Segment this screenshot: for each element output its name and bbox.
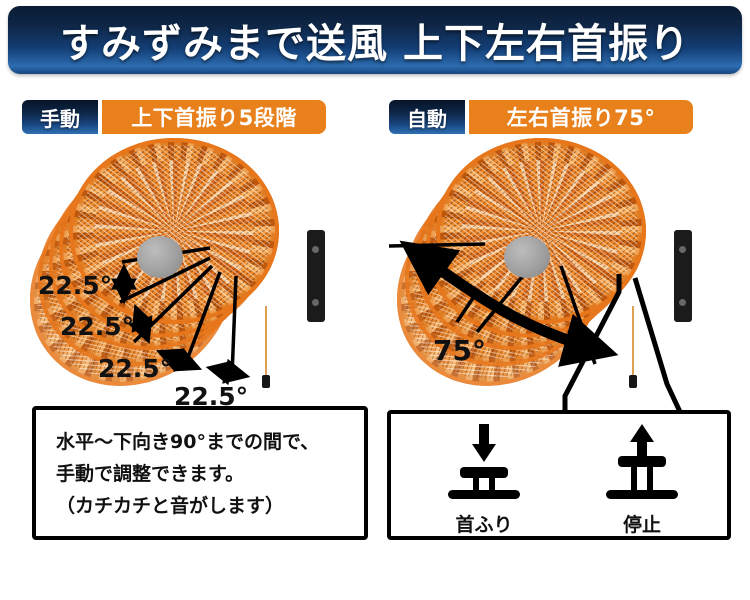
header-banner: すみずみまで送風 上下左右首振り	[8, 6, 742, 74]
knob-stop: 停止	[596, 422, 688, 540]
knob-stop-caption: 停止	[623, 510, 661, 537]
angle-label-1: 22.5°	[38, 271, 112, 300]
fan-hub	[137, 236, 183, 278]
angle-label-3: 22.5°	[98, 354, 172, 383]
pull-cord	[632, 306, 634, 378]
note-line-3: （カチカチと音がします）	[56, 490, 364, 522]
fan-hub	[504, 236, 550, 278]
note-box-manual-adjust: 水平〜下向き90°までの間で、 手動で調整できます。 （カチカチと音がします）	[32, 406, 368, 540]
panel-vertical-oscillation: 手動 上下首振り5段階	[14, 96, 370, 566]
page-title: すみずみまで送風 上下左右首振り	[60, 11, 690, 69]
sweep-angle-label: 75°	[433, 334, 486, 367]
knob-swing-caption: 首ふり	[455, 510, 512, 537]
knob-icon-row: 首ふり 停止	[391, 422, 735, 540]
knob-pressed-diagram	[438, 422, 530, 508]
knob-swing: 首ふり	[438, 422, 530, 540]
note-line-1: 水平〜下向き90°までの間で、	[56, 426, 364, 458]
wall-mount-bracket	[674, 230, 692, 322]
knob-raised-diagram	[596, 422, 688, 508]
note-box-knob-operation: 首ふり 停止	[387, 410, 731, 540]
wall-mount-bracket	[307, 230, 325, 322]
angle-label-2: 22.5°	[60, 312, 134, 341]
panel-horizontal-oscillation: 自動 左右首振り75°	[381, 96, 737, 566]
pull-cord	[265, 306, 267, 378]
note-line-2: 手動で調整できます。	[56, 458, 364, 490]
